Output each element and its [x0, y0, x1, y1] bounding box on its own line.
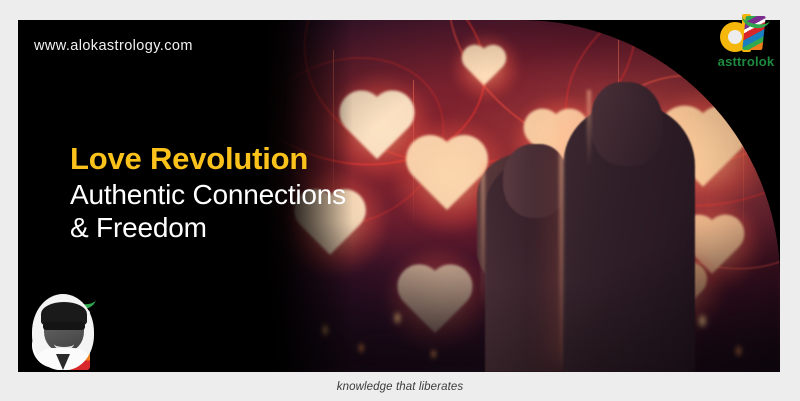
- headline-accent-line: Love Revolution: [70, 142, 500, 175]
- presenter-portrait: [32, 294, 94, 370]
- headline-subline-block: Authentic Connections & Freedom: [70, 179, 500, 245]
- logo-bowl-counter: [728, 30, 742, 44]
- asttrolok-a-mark-icon: [718, 12, 774, 52]
- tagline-text: knowledge that liberates: [0, 381, 800, 393]
- asttrolok-wordmark: asttrolok: [704, 54, 788, 69]
- banner-card: www.alokastrology.com Love Revolution Au…: [18, 20, 780, 372]
- sunglasses-icon: [43, 322, 85, 330]
- presenter-brand-watermark: [32, 286, 106, 370]
- headline-block: Love Revolution Authentic Connections & …: [70, 142, 500, 245]
- banner-clip: www.alokastrology.com Love Revolution Au…: [18, 20, 780, 372]
- headline-subline-2: & Freedom: [70, 212, 500, 245]
- headline-subline-1: Authentic Connections: [70, 179, 500, 212]
- asttrolok-logo[interactable]: asttrolok: [704, 12, 788, 74]
- site-url-text: www.alokastrology.com: [34, 38, 193, 54]
